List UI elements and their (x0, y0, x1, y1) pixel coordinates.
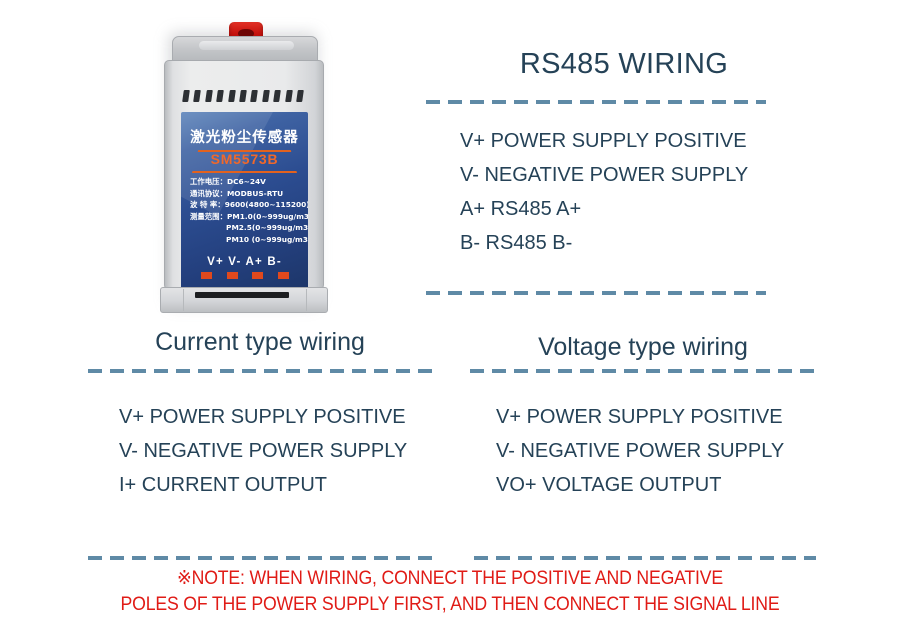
device-label-title-cn: 激光粉尘传感器 (181, 126, 308, 147)
wiring-note-line-2: POLES OF THE POWER SUPPLY FIRST, AND THE… (32, 592, 869, 618)
note-divider-left (88, 556, 436, 560)
note-divider-right (474, 556, 816, 560)
rs485-item-bminus: B- RS485 B- (460, 226, 860, 260)
voltage-type-section: Voltage type wiring (470, 333, 816, 362)
voltage-type-divider (470, 369, 816, 373)
rs485-divider-bottom (426, 291, 766, 295)
voltage-type-item-vminus: V- NEGATIVE POWER SUPPLY (496, 434, 876, 468)
current-type-item-vplus: V+ POWER SUPPLY POSITIVE (119, 400, 479, 434)
device-terminal-labels: V+ V- A+ B- (181, 256, 308, 268)
rs485-item-aplus: A+ RS485 A+ (460, 192, 860, 226)
voltage-type-item-vplus: V+ POWER SUPPLY POSITIVE (496, 400, 876, 434)
current-type-item-vminus: V- NEGATIVE POWER SUPPLY (119, 434, 479, 468)
rs485-title: RS485 WIRING (424, 48, 824, 81)
current-type-item-iplus: I+ CURRENT OUTPUT (119, 468, 479, 502)
device-model-text: SM5573B (181, 150, 308, 169)
rs485-wiring-section: RS485 WIRING (424, 48, 824, 81)
wiring-note-line-1: ※NOTE: WHEN WIRING, CONNECT THE POSITIVE… (32, 566, 869, 592)
current-type-title: Current type wiring (88, 328, 432, 357)
current-type-section: Current type wiring (88, 328, 432, 357)
voltage-type-item-list: V+ POWER SUPPLY POSITIVE V- NEGATIVE POW… (496, 400, 876, 502)
device-spec-text: 工作电压：DC6~24V 通讯协议：MODBUS-RTU 波 特 率：9600(… (190, 176, 303, 246)
current-type-item-list: V+ POWER SUPPLY POSITIVE V- NEGATIVE POW… (119, 400, 479, 502)
rs485-item-vminus: V- NEGATIVE POWER SUPPLY (460, 158, 860, 192)
rs485-divider-top (426, 100, 766, 104)
device-din-rail-clip (160, 287, 328, 313)
wiring-note: ※NOTE: WHEN WIRING, CONNECT THE POSITIVE… (32, 566, 869, 618)
product-photo: 激光粉尘传感器 SM5573B 工作电压：DC6~24V 通讯协议：MODBUS… (160, 22, 328, 312)
voltage-type-title: Voltage type wiring (470, 333, 816, 362)
rs485-item-list: V+ POWER SUPPLY POSITIVE V- NEGATIVE POW… (460, 124, 860, 260)
current-type-divider (88, 369, 432, 373)
voltage-type-item-voplus: VO+ VOLTAGE OUTPUT (496, 468, 876, 502)
device-terminal-markers (201, 272, 289, 279)
device-vent-slots (183, 90, 303, 102)
device-front-label: 激光粉尘传感器 SM5573B 工作电压：DC6~24V 通讯协议：MODBUS… (181, 112, 308, 290)
rs485-item-vplus: V+ POWER SUPPLY POSITIVE (460, 124, 860, 158)
